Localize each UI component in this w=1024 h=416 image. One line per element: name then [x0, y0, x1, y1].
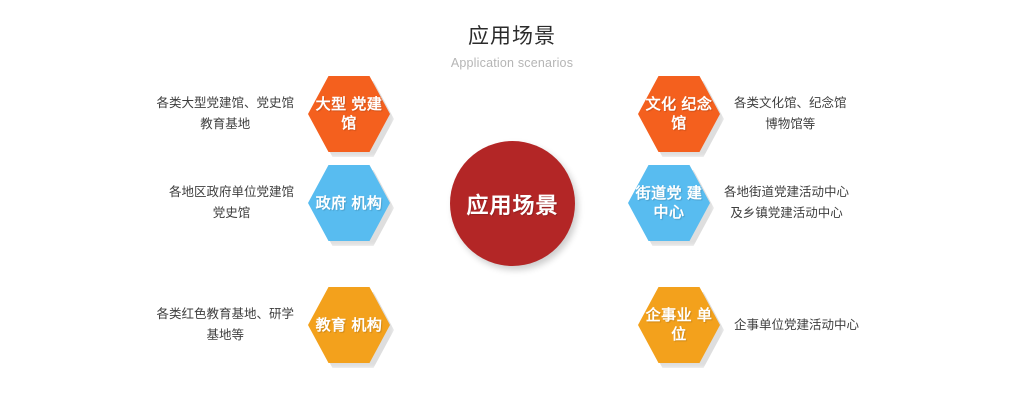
- node-enterprise-institution[interactable]: 企事业 单位 企事单位党建活动中心: [638, 287, 878, 363]
- node-label: 政府 机构: [308, 194, 390, 213]
- node-culture-memorial-hall[interactable]: 文化 纪念馆 各类文化馆、纪念馆 博物馆等: [638, 76, 868, 152]
- hexagon-shape[interactable]: 政府 机构: [308, 165, 390, 241]
- node-description: 各地街道党建活动中心 及乡镇党建活动中心: [724, 182, 849, 224]
- hexagon-shape[interactable]: 文化 纪念馆: [638, 76, 720, 152]
- node-description: 各地区政府单位党建馆 党史馆: [169, 182, 294, 224]
- node-large-party-building-hall[interactable]: 各类大型党建馆、党史馆 教育基地 大型 党建馆: [176, 76, 390, 152]
- node-description: 各类红色教育基地、研学 基地等: [156, 304, 294, 346]
- node-label: 大型 党建馆: [308, 95, 390, 133]
- node-label: 企事业 单位: [638, 306, 720, 344]
- hexagon-shape[interactable]: 企事业 单位: [638, 287, 720, 363]
- node-label: 文化 纪念馆: [638, 95, 720, 133]
- node-description: 企事单位党建活动中心: [734, 315, 859, 336]
- node-description: 各类文化馆、纪念馆 博物馆等: [734, 93, 847, 135]
- center-hub-circle[interactable]: 应用场景: [450, 141, 575, 266]
- node-street-party-center[interactable]: 街道党 建中心 各地街道党建活动中心 及乡镇党建活动中心: [628, 165, 868, 241]
- hexagon-shape[interactable]: 街道党 建中心: [628, 165, 710, 241]
- application-scenarios-diagram: 应用场景 各类大型党建馆、党史馆 教育基地 大型 党建馆 各地区政府单位党建馆 …: [0, 0, 1024, 416]
- hexagon-shape[interactable]: 大型 党建馆: [308, 76, 390, 152]
- node-education-institution[interactable]: 各类红色教育基地、研学 基地等 教育 机构: [170, 287, 390, 363]
- node-label: 街道党 建中心: [628, 184, 710, 222]
- node-label: 教育 机构: [308, 316, 390, 335]
- center-hub-label: 应用场景: [466, 188, 558, 220]
- node-government-agency[interactable]: 各地区政府单位党建馆 党史馆 政府 机构: [200, 165, 390, 241]
- hexagon-shape[interactable]: 教育 机构: [308, 287, 390, 363]
- node-description: 各类大型党建馆、党史馆 教育基地: [156, 93, 294, 135]
